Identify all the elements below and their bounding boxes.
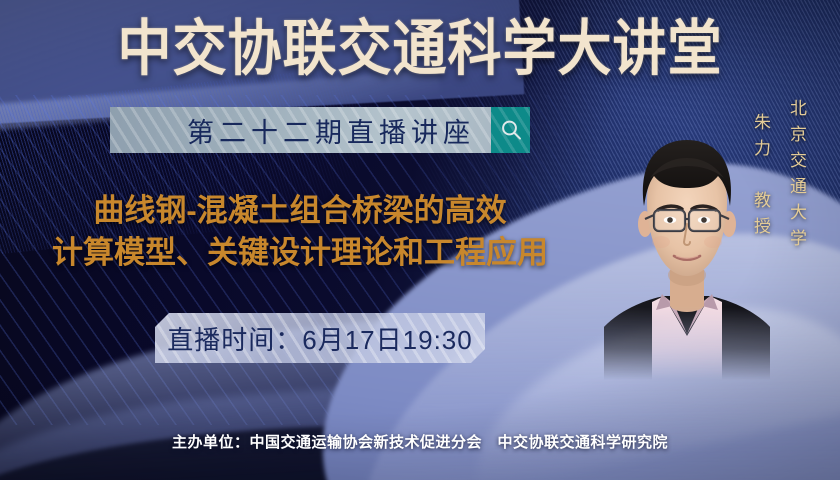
lecture-topic-line2: 计算模型、关键设计理论和工程应用: [0, 232, 600, 274]
broadcast-time-text: 直播时间：6月17日19:30: [167, 320, 472, 357]
speaker-organization: 北京交通大学: [784, 99, 809, 255]
lecture-topic-line1: 曲线钢-混凝土组合桥梁的高效: [0, 190, 600, 232]
episode-bar: 第二十二期直播讲座: [110, 107, 530, 153]
lecture-topic: 曲线钢-混凝土组合桥梁的高效 计算模型、关键设计理论和工程应用: [0, 190, 600, 274]
broadcast-time-banner: 直播时间：6月17日19:30: [155, 313, 485, 363]
episode-label: 第二十二期直播讲座: [187, 111, 475, 150]
poster-canvas: 中交协联交通科学大讲堂 第二十二期直播讲座 曲线钢-混凝土组合桥梁的高效 计算模…: [0, 0, 840, 480]
search-icon[interactable]: [491, 107, 530, 153]
episode-bar-body: 第二十二期直播讲座: [110, 107, 491, 153]
page-title: 中交协联交通科学大讲堂: [0, 14, 840, 83]
speaker-portrait: [604, 120, 770, 380]
organizer-footer: 主办单位：中国交通运输协会新技术促进分会 中交协联交通科学研究院: [0, 431, 840, 452]
speaker-name: 朱力 教授: [748, 113, 773, 243]
